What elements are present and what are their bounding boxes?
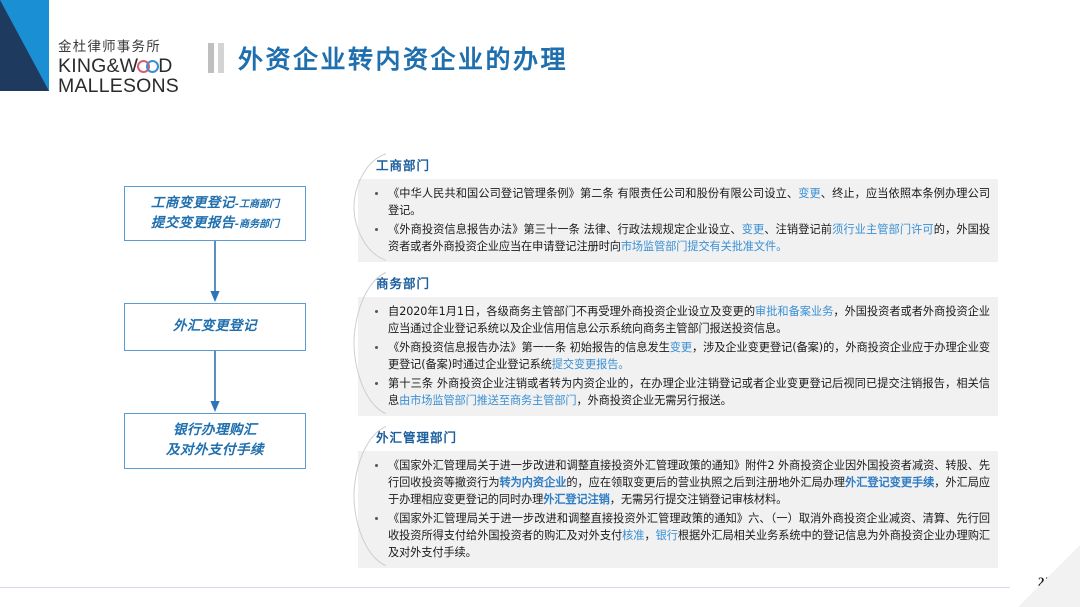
logo-english-line-2: MALLESONS [58,77,183,97]
bullet-list-waihui: 《国家外汇管理局关于进一步改进和调整直接投资外汇管理政策的通知》附件2 外商投资… [366,457,990,561]
panel-body-gongshang: 《中华人民共和国公司登记管理条例》第二条 有限责任公司和股份有限公司设立、变更、… [358,179,998,262]
panel-body-shangwu: 自2020年1月1日，各级商务主管部门不再受理外商投资企业设立及变更的审批和备案… [358,297,998,416]
flow-step-1-line-1-main: 工商变更登记 [151,195,235,211]
panel-heading-shangwu: 商务部门 [358,270,998,297]
flow-step-3-line-2: 及对外支付手续 [166,441,264,461]
slide-canvas: 金杜律师事务所 KING&W D MALLESONS 外资企业转内资企业的办理 … [0,0,1080,607]
bullet-item: 《外商投资信息报告办法》第三十一条 法律、行政法规规定企业设立、变更、注销登记前… [366,221,990,255]
authority-panels: 工商部门 《中华人民共和国公司登记管理条例》第二条 有限责任公司和股份有限公司设… [358,152,998,568]
page-title: 外资企业转内资企业的办理 [238,40,568,76]
logo-english-line-1: KING&W D [58,57,183,77]
panel-heading-waihui: 外汇管理部门 [358,424,998,451]
bullet-list-shangwu: 自2020年1月1日，各级商务主管部门不再受理外商投资企业设立及变更的审批和备案… [366,303,990,409]
title-bars-icon [208,43,224,73]
flow-step-1[interactable]: 工商变更登记-工商部门 提交变更报告-商务部门 [124,186,306,241]
bullet-item: 第十三条 外商投资企业注销或者转为内资企业的，在办理企业注销登记或者企业变更登记… [366,375,990,409]
flow-step-2-line-1-main: 外汇变更登记 [173,318,257,334]
flow-step-1-line-2: 提交变更报告-商务部门 [151,214,279,234]
bullet-item: 《国家外汇管理局关于进一步改进和调整直接投资外汇管理政策的通知》附件2 外商投资… [366,457,990,508]
flow-arrow-1-to-2 [124,241,306,303]
flow-step-2-line-1: 外汇变更登记 [173,317,257,337]
corner-decoration [0,0,49,91]
bullet-item: 《国家外汇管理局关于进一步改进和调整直接投资外汇管理政策的通知》六、（一）取消外… [366,510,990,561]
flow-step-3-line-1: 银行办理购汇 [173,421,257,441]
flow-step-3-line-1-main: 银行办理购汇 [173,422,257,438]
footer-divider [0,587,1010,588]
firm-logo: 金杜律师事务所 KING&W D MALLESONS [58,41,183,97]
logo-double-o-rings [137,60,159,73]
bullet-item: 《中华人民共和国公司登记管理条例》第二条 有限责任公司和股份有限公司设立、变更、… [366,185,990,219]
flow-step-1-line-1: 工商变更登记-工商部门 [151,194,279,214]
page-number: 25 [1038,574,1052,590]
flow-step-2[interactable]: 外汇变更登记 [124,303,306,351]
panel-heading-gongshang: 工商部门 [358,152,998,179]
flow-step-1-line-2-main: 提交变更报告 [151,215,235,231]
flow-step-1-line-1-suffix: -工商部门 [235,199,279,210]
slide-title-row: 外资企业转内资企业的办理 [208,40,568,76]
bullet-list-gongshang: 《中华人民共和国公司登记管理条例》第二条 有限责任公司和股份有限公司设立、变更、… [366,185,990,255]
panel-gongshang: 工商部门 《中华人民共和国公司登记管理条例》第二条 有限责任公司和股份有限公司设… [358,152,998,262]
panel-waihui: 外汇管理部门 《国家外汇管理局关于进一步改进和调整直接投资外汇管理政策的通知》附… [358,424,998,568]
logo-kingw-text: KING&W [58,57,138,77]
panel-shangwu: 商务部门 自2020年1月1日，各级商务主管部门不再受理外商投资企业设立及变更的… [358,270,998,416]
bullet-item: 《外商投资信息报告办法》第一一条 初始报告的信息发生变更，涉及企业变更登记(备案… [366,339,990,373]
panel-body-waihui: 《国家外汇管理局关于进一步改进和调整直接投资外汇管理政策的通知》附件2 外商投资… [358,451,998,568]
flow-step-1-line-2-suffix: -商务部门 [235,219,279,230]
logo-chinese-name: 金杜律师事务所 [58,41,183,55]
logo-d-text: D [158,57,172,77]
flow-step-3[interactable]: 银行办理购汇 及对外支付手续 [124,413,306,469]
flow-step-3-line-2-main: 及对外支付手续 [166,442,264,458]
process-flowchart: 工商变更登记-工商部门 提交变更报告-商务部门 外汇变更登记 [124,186,306,469]
flow-arrow-2-to-3 [124,351,306,413]
bullet-item: 自2020年1月1日，各级商务主管部门不再受理外商投资企业设立及变更的审批和备案… [366,303,990,337]
